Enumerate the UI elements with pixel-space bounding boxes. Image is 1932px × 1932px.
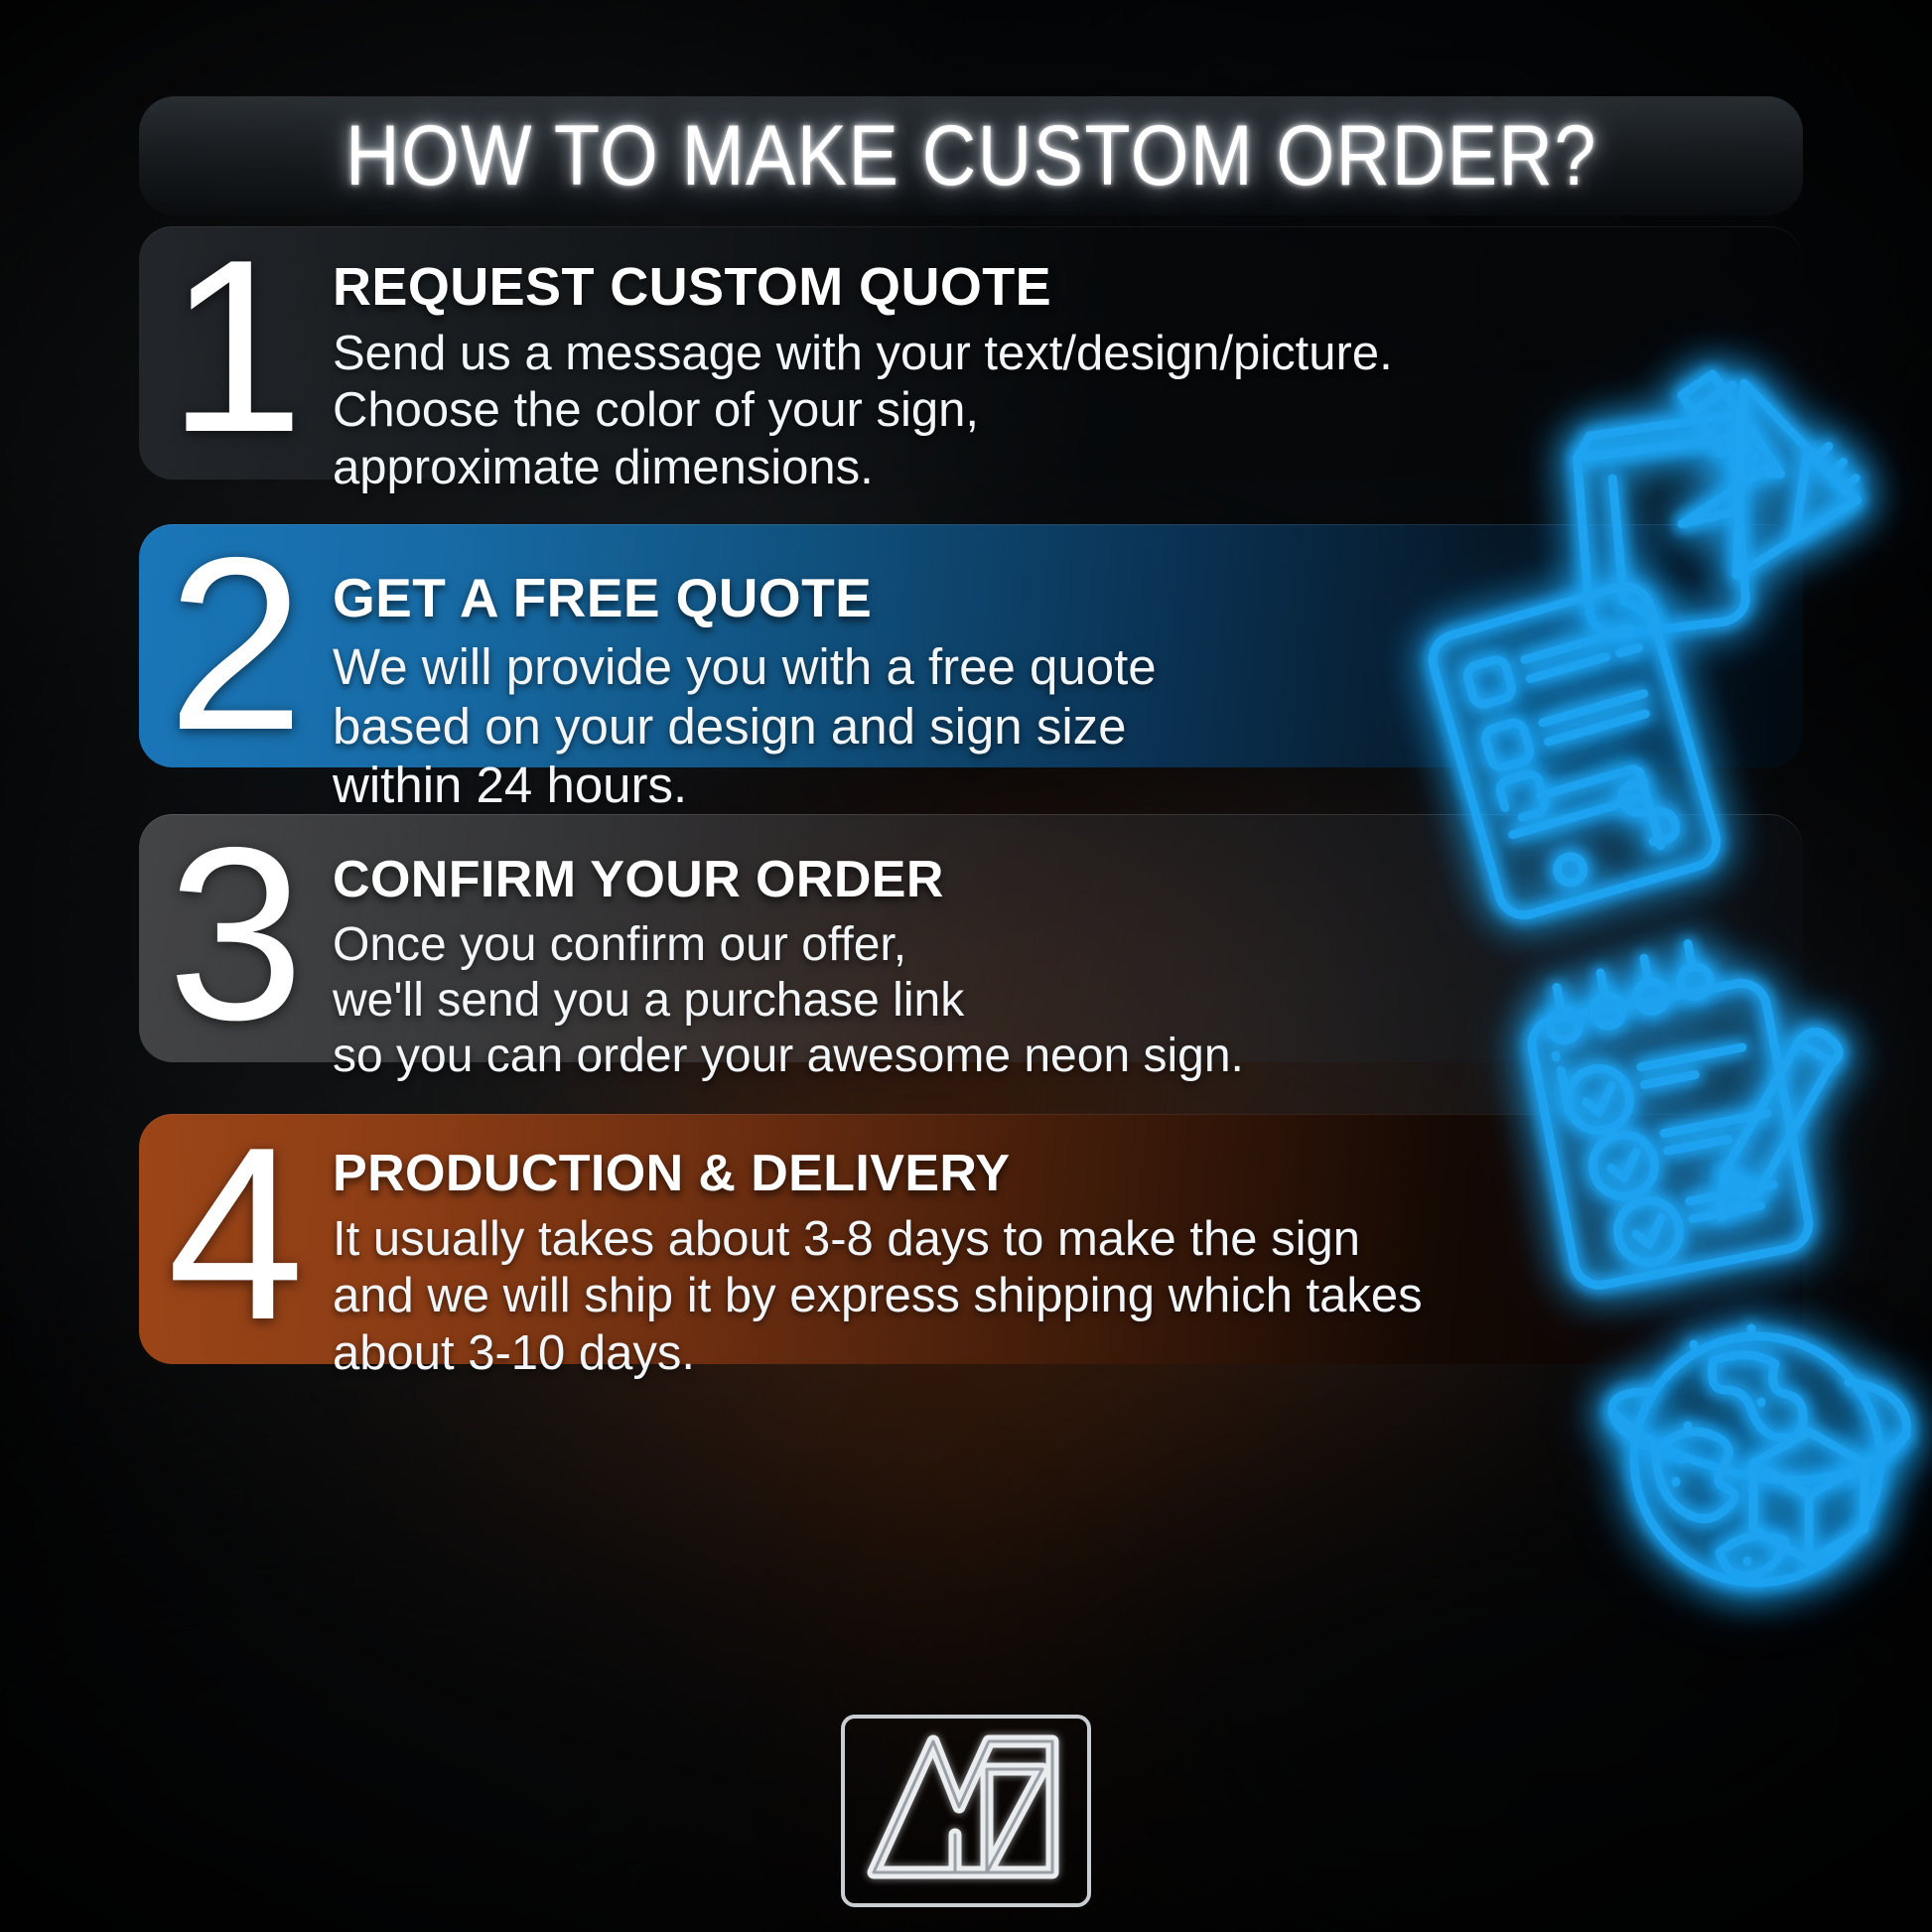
step-content-3: CONFIRM YOUR ORDER Once you confirm our … (333, 814, 1274, 1084)
step-content-2: GET A FREE QUOTE We will provide you wit… (333, 524, 1186, 815)
step-content-4: PRODUCTION & DELIVERY It usually takes a… (333, 1114, 1452, 1382)
logo-glyph (874, 1741, 1052, 1872)
step-number-2: 2 (139, 524, 333, 757)
step-description-3: Once you confirm our offer, we'll send y… (333, 917, 1244, 1084)
step-description-2: We will provide you with a free quote ba… (333, 637, 1157, 815)
step-number-1: 1 (139, 226, 333, 459)
step-number-4: 4 (139, 1114, 333, 1346)
step-heading-4: PRODUCTION & DELIVERY (333, 1144, 1423, 1203)
title-panel: HOW TO MAKE CUSTOM ORDER? (139, 96, 1803, 215)
page-title: HOW TO MAKE CUSTOM ORDER? (345, 107, 1597, 206)
step-heading-3: CONFIRM YOUR ORDER (333, 850, 1244, 909)
step-content-1: REQUEST CUSTOM QUOTE Send us a message w… (333, 226, 1423, 496)
globe-delivery-icon (1594, 1301, 1922, 1618)
step-description-4: It usually takes about 3-8 days to make … (333, 1211, 1423, 1382)
step-card-1: 1 REQUEST CUSTOM QUOTE Send us a message… (139, 226, 1803, 480)
ln-monogram-logo (838, 1712, 1094, 1910)
step-heading-1: REQUEST CUSTOM QUOTE (333, 256, 1393, 318)
infographic-page: HOW TO MAKE CUSTOM ORDER? 1 REQUEST CUST… (0, 0, 1932, 1932)
step-heading-2: GET A FREE QUOTE (333, 566, 1157, 629)
step-number-3: 3 (139, 814, 333, 1046)
step-description-1: Send us a message with your text/design/… (333, 326, 1393, 496)
checklist-notepad-pencil-icon (1513, 951, 1870, 1289)
invoice-quote-icon (1418, 578, 1745, 915)
